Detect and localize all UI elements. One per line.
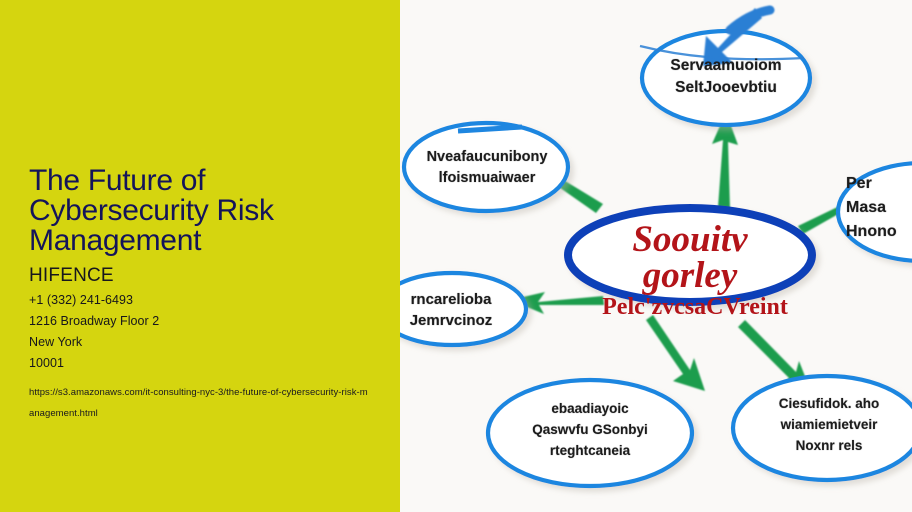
postal-code: 10001: [29, 353, 374, 374]
mindmap-diagram: [400, 0, 912, 512]
node-upper-left[interactable]: [404, 123, 568, 211]
node-bottom-left-ellipse: [488, 380, 692, 486]
source-url[interactable]: https://s3.amazonaws.com/it-consulting-n…: [29, 382, 369, 424]
left-text-panel: The Future of Cybersecurity Risk Managem…: [0, 0, 400, 512]
node-upper-left-ellipse: [404, 123, 568, 211]
node-center-ellipse: [568, 208, 812, 302]
address-line: 1216 Broadway Floor 2: [29, 311, 374, 332]
left-panel-content: The Future of Cybersecurity Risk Managem…: [29, 166, 374, 424]
phone-number: +1 (332) 241-6493: [29, 290, 374, 311]
node-left-ellipse: [400, 273, 526, 345]
node-bottom-right-ellipse: [733, 376, 912, 480]
promo-card: The Future of Cybersecurity Risk Managem…: [0, 0, 912, 512]
page-title: The Future of Cybersecurity Risk Managem…: [29, 166, 359, 256]
city-name: New York: [29, 332, 374, 353]
mindmap-image-panel: ServaamuoiomSeltJooevbtiu Nveafaucunibon…: [400, 0, 912, 512]
node-center[interactable]: [568, 208, 812, 302]
company-name: HIFENCE: [29, 264, 374, 287]
node-left[interactable]: [400, 273, 526, 345]
node-bottom-left[interactable]: [488, 380, 692, 486]
node-bottom-right[interactable]: [733, 376, 912, 480]
